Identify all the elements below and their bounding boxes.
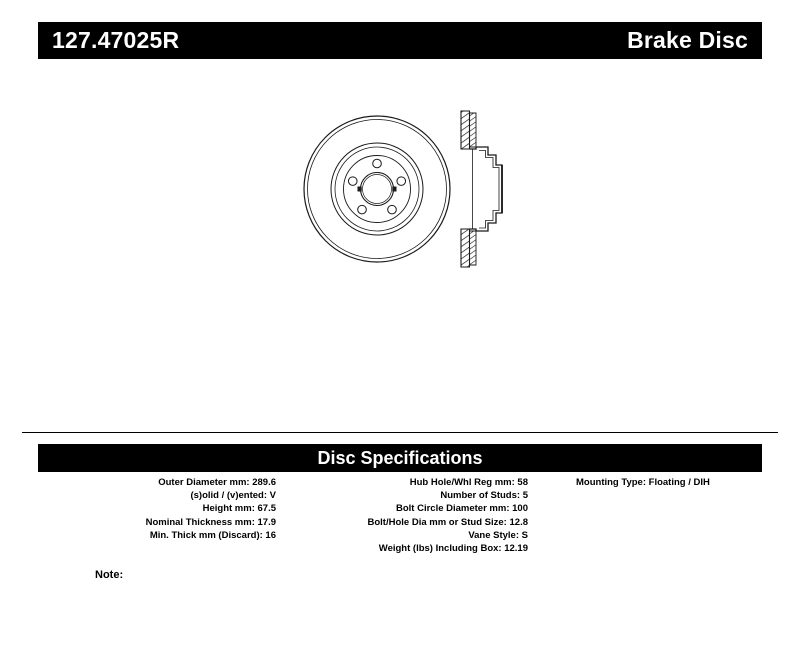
spec-row: Bolt/Hole Dia mm or Stud Size: 12.8 xyxy=(288,516,528,529)
spec-value: V xyxy=(270,490,276,501)
stud-hole xyxy=(373,159,382,168)
spec-row: Min. Thick mm (Discard): 16 xyxy=(38,529,276,542)
hat-outer-circle xyxy=(331,143,423,235)
spec-label: Bolt Circle Diameter mm: xyxy=(396,503,510,514)
spec-value: 289.6 xyxy=(252,477,276,488)
spec-label: Weight (lbs) Including Box: xyxy=(379,543,502,554)
note-label: Note: xyxy=(95,569,123,581)
spec-label: Bolt/Hole Dia mm or Stud Size: xyxy=(368,517,507,528)
rotor-section-lower-inner-hatched xyxy=(470,231,477,265)
spec-row: Number of Studs: 5 xyxy=(288,489,528,502)
rotor-outer-circle xyxy=(304,116,450,262)
spec-label: Number of Studs: xyxy=(440,490,520,501)
hub-tab-right xyxy=(392,187,396,192)
rotor-section-upper-inner-hatched xyxy=(470,113,477,147)
spec-value: S xyxy=(522,530,528,541)
spec-label: Vane Style: xyxy=(468,530,519,541)
spec-row: Height mm: 67.5 xyxy=(38,502,276,515)
spec-title-bar: Disc Specifications xyxy=(38,444,762,472)
brake-disc-technical-drawing xyxy=(250,95,550,295)
spec-columns: Outer Diameter mm: 289.6 (s)olid / (v)en… xyxy=(38,476,762,555)
spec-column-middle: Hub Hole/Whl Reg mm: 58 Number of Studs:… xyxy=(288,476,548,555)
spec-row: Nominal Thickness mm: 17.9 xyxy=(38,516,276,529)
hub-bore-inner-circle xyxy=(363,175,392,204)
spec-label: Min. Thick mm (Discard): xyxy=(150,530,263,541)
mounting-face-circle xyxy=(344,156,411,223)
product-drawing xyxy=(250,95,550,295)
brake-disc-front-view xyxy=(304,116,450,262)
spec-label: Nominal Thickness mm: xyxy=(146,517,255,528)
spec-section-title: Disc Specifications xyxy=(317,449,482,467)
spec-value: 58 xyxy=(517,477,528,488)
spec-value: 67.5 xyxy=(258,503,277,514)
part-number: 127.47025R xyxy=(52,29,179,52)
spec-value: 100 xyxy=(512,503,528,514)
section-divider xyxy=(22,432,778,433)
spec-value: 12.8 xyxy=(510,517,529,528)
stud-hole xyxy=(348,177,357,186)
rotor-section-lower-hatched xyxy=(461,229,470,267)
spec-value: 17.9 xyxy=(258,517,277,528)
spec-row: Outer Diameter mm: 289.6 xyxy=(38,476,276,489)
rotor-section-upper-hatched xyxy=(461,111,470,149)
spec-column-left: Outer Diameter mm: 289.6 (s)olid / (v)en… xyxy=(38,476,288,542)
rotor-friction-ring-circle xyxy=(308,120,447,259)
stud-hole xyxy=(388,205,397,214)
spec-label: Outer Diameter mm: xyxy=(158,477,249,488)
spec-row: (s)olid / (v)ented: V xyxy=(38,489,276,502)
stud-hole xyxy=(397,177,406,186)
spec-row: Mounting Type: Floating / DIH xyxy=(576,476,762,489)
disc-hat-profile-outline xyxy=(470,147,503,231)
spec-value: 12.19 xyxy=(504,543,528,554)
spec-value: 16 xyxy=(265,530,276,541)
spec-row: Weight (lbs) Including Box: 12.19 xyxy=(288,542,528,555)
spec-value: Floating / DIH xyxy=(649,477,710,488)
spec-label: (s)olid / (v)ented: xyxy=(190,490,267,501)
note-block: Note: xyxy=(95,569,123,581)
spec-label: Height mm: xyxy=(203,503,255,514)
spec-row: Vane Style: S xyxy=(288,529,528,542)
hub-bore-circle xyxy=(361,173,394,206)
page-title: Brake Disc xyxy=(627,29,748,52)
stud-hole xyxy=(358,205,367,214)
spec-row: Hub Hole/Whl Reg mm: 58 xyxy=(288,476,528,489)
spec-row: Bolt Circle Diameter mm: 100 xyxy=(288,502,528,515)
header-bar: 127.47025R Brake Disc xyxy=(38,22,762,59)
spec-column-right: Mounting Type: Floating / DIH xyxy=(548,476,762,489)
hub-tab-left xyxy=(358,187,362,192)
spec-value: 5 xyxy=(523,490,528,501)
spec-label: Mounting Type: xyxy=(576,477,646,488)
brake-disc-cross-section-view xyxy=(461,111,502,267)
spec-label: Hub Hole/Whl Reg mm: xyxy=(410,477,515,488)
